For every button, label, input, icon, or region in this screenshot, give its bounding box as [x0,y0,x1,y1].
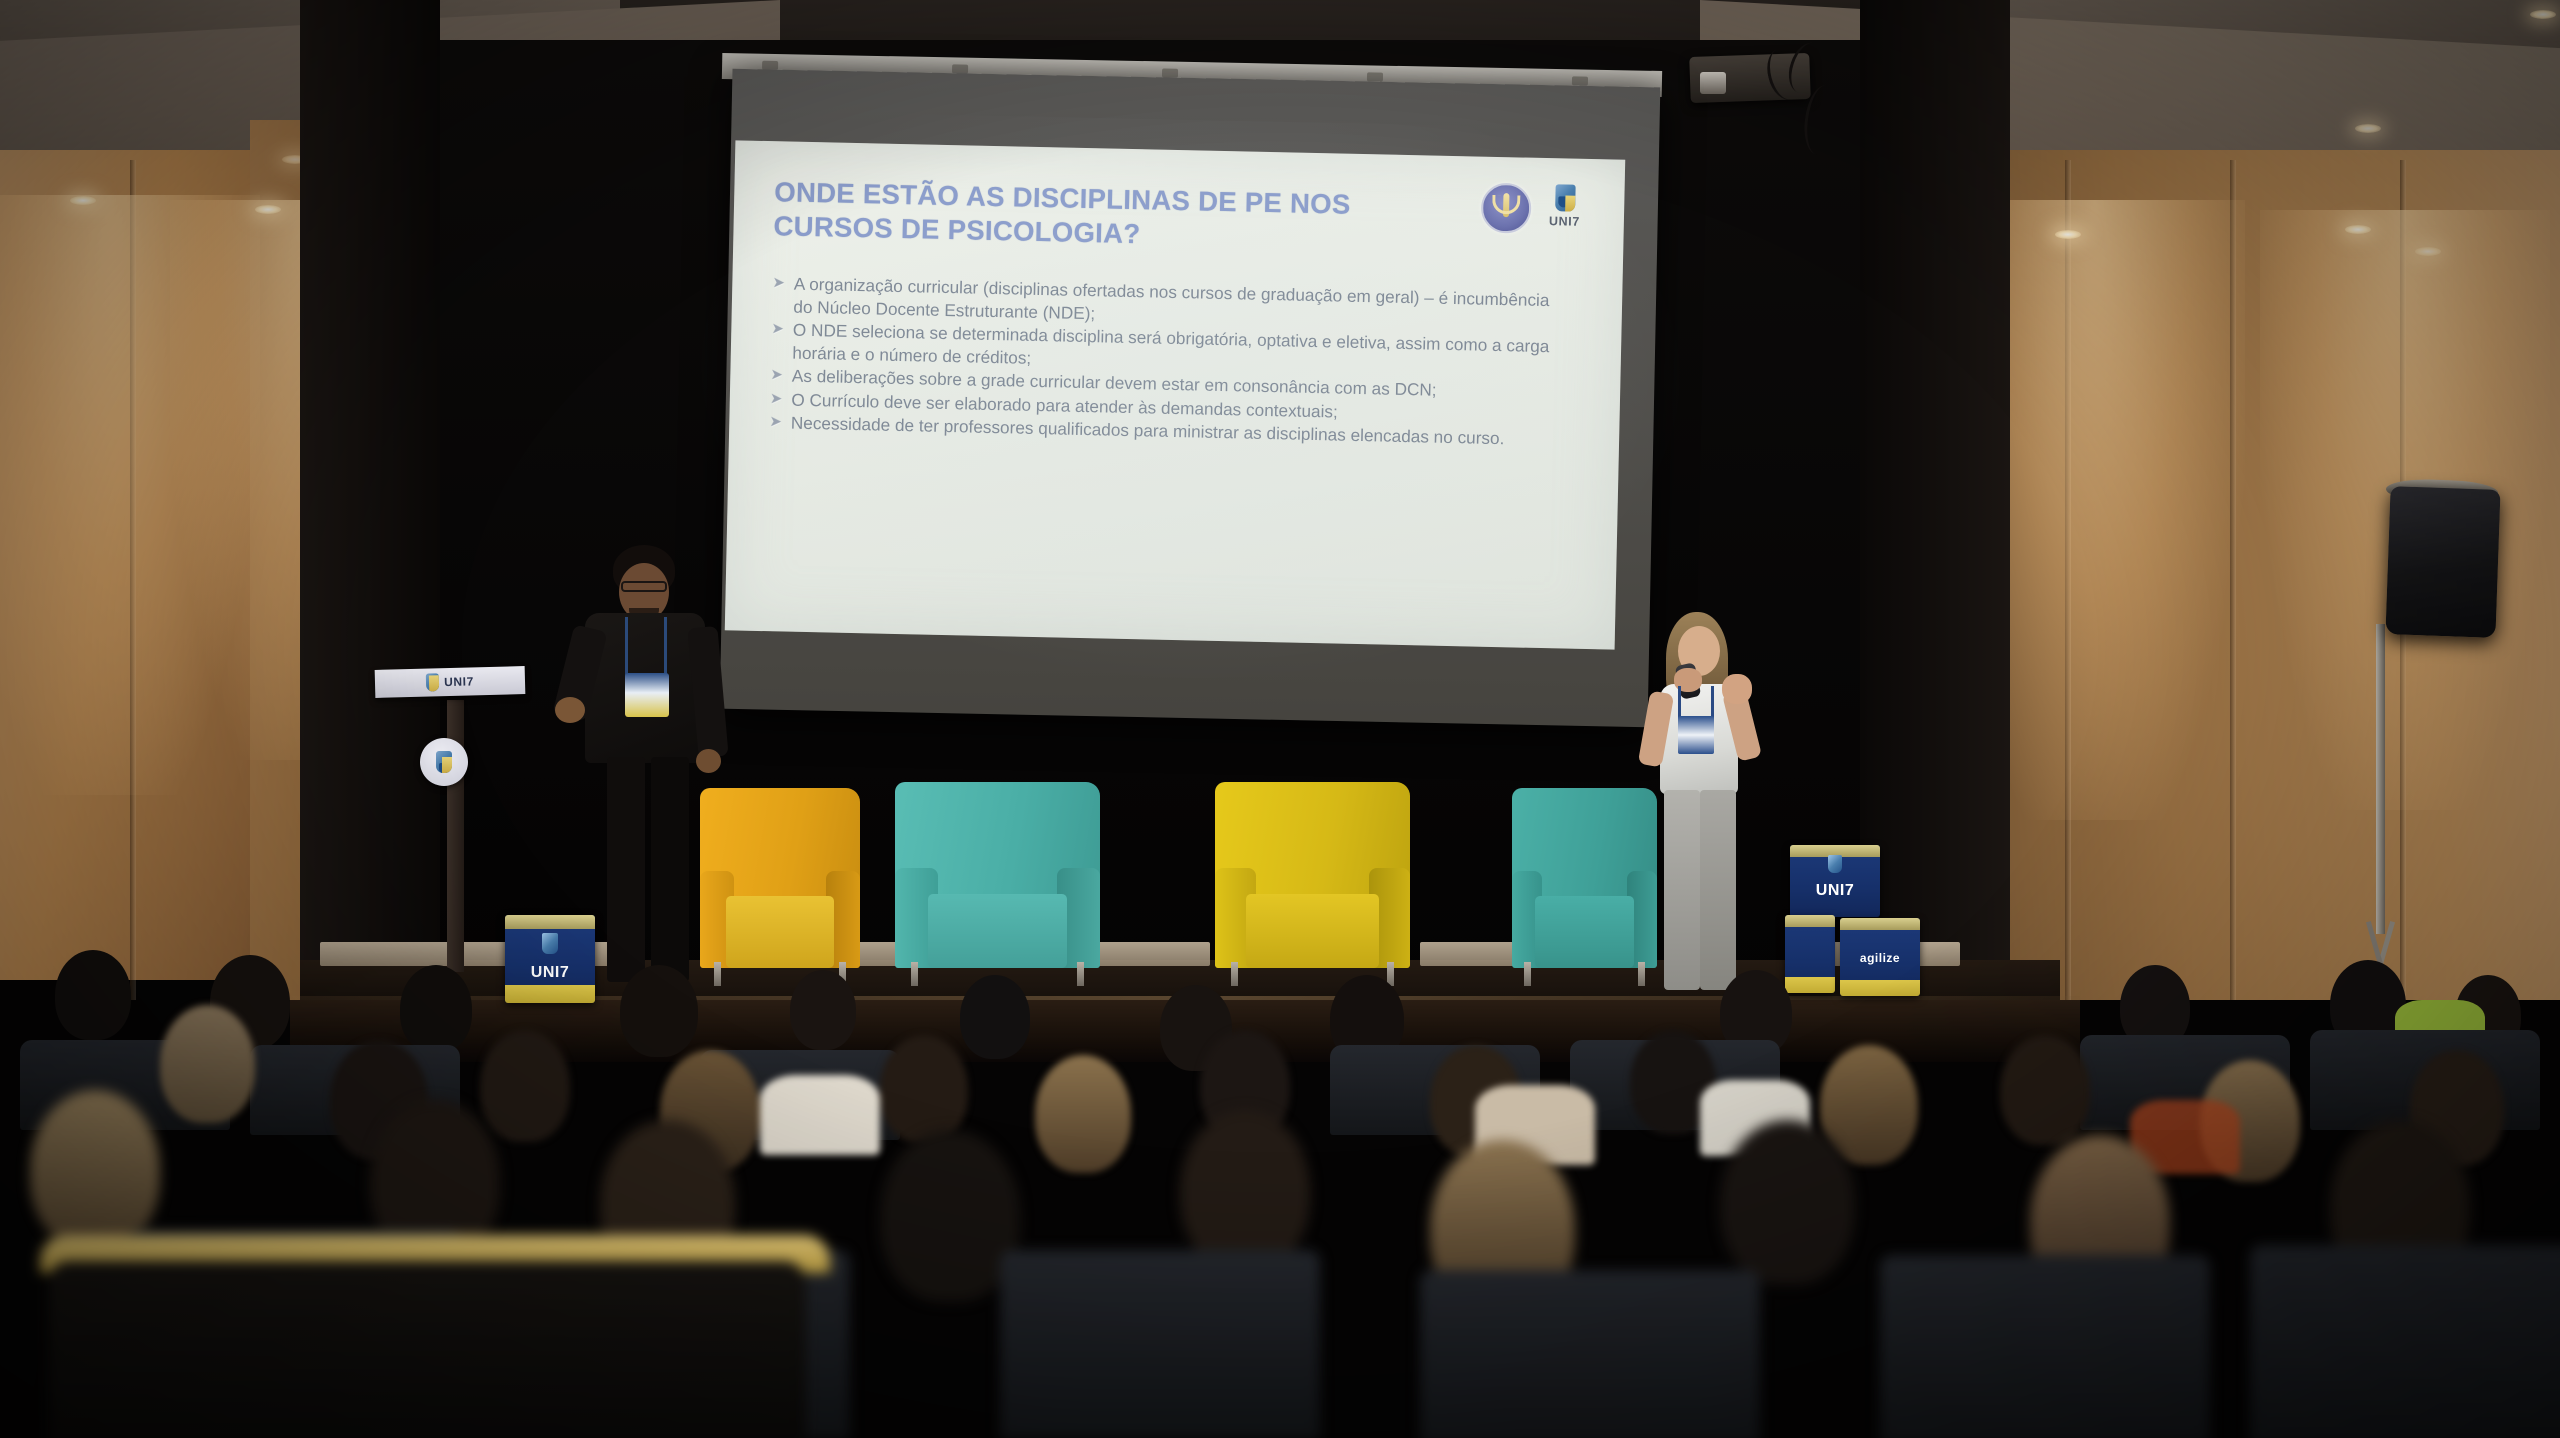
downlight-icon-2 [255,205,281,214]
drum-label: agilize [1840,951,1920,965]
armchair-seat [1246,894,1379,968]
presentation-slide: UNI7 ONDE ESTÃO AS DISCIPLINAS DE PE NOS… [725,140,1625,649]
proscenium-left [300,0,440,1000]
audience-head [880,1130,1020,1302]
presenter-leg-left [607,757,645,982]
audience-head [400,965,472,1053]
bullet-arrow-icon: ➤ [772,272,785,294]
audience-head [790,970,856,1050]
drum-bottom-left [1785,915,1835,993]
uni7-logo: UNI7 [1549,184,1581,229]
armchair-seat [1535,896,1634,968]
lanyard [625,617,667,681]
uni7-shield-icon [1828,855,1842,873]
wall-facet-seam-2 [2230,160,2236,1000]
wall-facet-seam-1 [2065,160,2071,1000]
conference-badge [625,673,669,717]
uni7-logo-label: UNI7 [1549,214,1580,229]
downlight-icon-6 [2355,124,2381,133]
conference-badge [1678,716,1714,754]
stage-skirt-3 [1090,942,1210,966]
audience-head [880,1035,968,1143]
audience-head [620,965,698,1057]
armchair-leg [1524,962,1531,986]
audience-head [1180,1110,1310,1270]
university-crest-icon [1481,183,1532,234]
downlight-icon-8 [2415,247,2441,256]
audience-head [160,1005,255,1123]
armchair-seat [928,894,1067,968]
glasses-icon [621,581,667,592]
audience-head [1035,1055,1131,1173]
presenter2-leg-left [1664,790,1700,990]
drum-label: UNI7 [1790,882,1880,900]
lectern-label: UNI7 [444,674,474,689]
bullet-arrow-icon: ➤ [769,411,782,433]
proscenium-right [1860,0,2010,1000]
armchair-leg [1231,962,1238,986]
auditorium-scene: UNI7 ONDE ESTÃO AS DISCIPLINAS DE PE NOS… [0,0,2560,1438]
pa-loudspeaker [2385,486,2500,638]
speaker-stand-pole [2376,624,2385,934]
seat-back [48,1261,806,1438]
uni7-shield-icon [426,673,439,691]
audience-head [55,950,131,1040]
drum-band [1785,977,1835,993]
presenter2-leg-right [1700,790,1736,990]
speaker-presenter-left [555,545,735,995]
audience-head [960,975,1030,1059]
armchair-2 [895,800,1100,986]
auditorium-seat [2250,1245,2560,1438]
downlight-icon-5 [2345,225,2371,234]
bullet-arrow-icon: ➤ [770,364,783,386]
projector-lens-icon [1700,72,1726,94]
speaker-presenter-right [1638,612,1763,992]
lectern-medallion [420,738,468,786]
downlight-icon-4 [2055,230,2081,239]
armchair-4 [1512,806,1657,986]
presenter-leg-right [651,757,689,982]
slide-bullet-list: ➤ A organização curricular (disciplinas … [769,272,1582,451]
audience-head [480,1030,570,1142]
presenter2-hand-right [1722,674,1752,704]
drum-bottom-right: agilize [1840,918,1920,996]
downlight-icon-7 [2530,10,2556,19]
presenter-hand-left [555,697,585,723]
uni7-shield-icon [436,751,452,773]
rail-clip-4 [1367,72,1383,81]
armchair-3 [1215,800,1410,986]
uni7-shield-icon [1555,184,1576,211]
audience-head [30,1090,160,1250]
lectern-sign: UNI7 [375,666,526,698]
foreground-seat [40,1235,830,1438]
drum-lid [1785,915,1835,927]
armchair-leg [911,962,918,986]
downlight-icon-1 [70,196,96,205]
drum-band [1840,980,1920,996]
slide-logo-group: UNI7 [1481,183,1581,235]
presenter-hand-right [696,749,721,773]
auditorium-seat [1000,1250,1320,1438]
auditorium-seat [1420,1270,1760,1438]
drum-lid [1840,918,1920,930]
audience-head [2000,1035,2090,1145]
rail-clip-5 [1572,76,1588,85]
audience-shirt [760,1075,880,1155]
armchair-seat [726,896,835,968]
rail-clip-3 [1162,68,1178,77]
drum-top-right: UNI7 [1790,845,1880,917]
bullet-arrow-icon: ➤ [770,388,783,410]
slide-title: ONDE ESTÃO AS DISCIPLINAS DE PE NOS CURS… [773,175,1414,256]
auditorium-seat [1880,1255,2210,1438]
bullet-arrow-icon: ➤ [771,318,784,340]
armchair-leg [1077,962,1084,986]
audience-head [1720,1120,1855,1285]
wall-facet-seam-4 [130,160,136,1000]
